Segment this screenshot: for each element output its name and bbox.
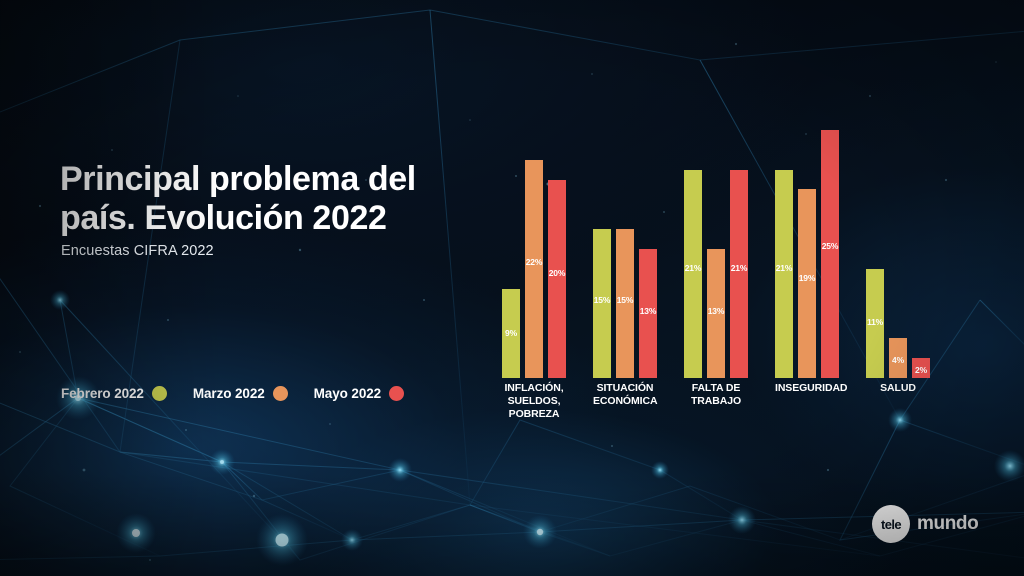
infographic-slide: Principal problema del país. Evolución 2… — [0, 0, 1024, 576]
bar-value-label: 21% — [685, 264, 701, 273]
bar: 13% — [707, 249, 725, 378]
page-title: Principal problema del país. Evolución 2… — [60, 160, 480, 238]
bar: 25% — [821, 130, 839, 378]
bar-value-label: 4% — [892, 356, 904, 365]
bar: 20% — [548, 180, 566, 378]
bar-value-label: 25% — [822, 242, 838, 251]
page-subtitle: Encuestas CIFRA 2022 — [61, 243, 214, 259]
category-label: INFLACIÓN,SUELDOS,POBREZA — [502, 378, 566, 430]
legend-item-marzo: Marzo 2022 — [193, 386, 288, 401]
bar: 21% — [684, 170, 702, 378]
bar: 4% — [889, 338, 907, 378]
bar: 15% — [593, 229, 611, 378]
bar-value-label: 11% — [867, 318, 883, 327]
bar-value-label: 13% — [708, 307, 724, 316]
legend-item-mayo: Mayo 2022 — [314, 386, 404, 401]
bar-group: 9%22%20% — [502, 160, 566, 378]
bar-group: 11%4%2% — [866, 269, 930, 378]
legend-label-marzo: Marzo 2022 — [193, 386, 265, 401]
chart-legend: Febrero 2022 Marzo 2022 Mayo 2022 — [61, 386, 404, 401]
bar: 13% — [639, 249, 657, 378]
bar-chart-category-labels: INFLACIÓN,SUELDOS,POBREZASITUACIÓNECONÓM… — [492, 378, 1004, 430]
legend-item-febrero: Febrero 2022 — [61, 386, 167, 401]
legend-swatch-febrero — [152, 386, 167, 401]
bar-value-label: 21% — [731, 264, 747, 273]
bar: 21% — [775, 170, 793, 378]
bar-value-label: 13% — [640, 307, 656, 316]
category-label: SALUD — [866, 378, 930, 430]
bar-value-label: 9% — [505, 329, 517, 338]
telemundo-logo: tele mundo — [872, 505, 978, 543]
legend-swatch-mayo — [389, 386, 404, 401]
category-label: SITUACIÓNECONÓMICA — [593, 378, 657, 430]
bar: 22% — [525, 160, 543, 378]
category-label: INSEGURIDAD — [775, 378, 839, 430]
telemundo-logo-mark: tele — [872, 505, 910, 543]
bar: 11% — [866, 269, 884, 378]
bar-value-label: 21% — [776, 264, 792, 273]
bar-value-label: 20% — [549, 269, 565, 278]
bar-chart: 9%22%20%15%15%13%21%13%21%21%19%25%11%4%… — [492, 120, 1004, 430]
legend-swatch-marzo — [273, 386, 288, 401]
bar-chart-plot-area: 9%22%20%15%15%13%21%13%21%21%19%25%11%4%… — [492, 120, 1004, 378]
telemundo-logo-word: mundo — [917, 513, 978, 535]
bar: 15% — [616, 229, 634, 378]
bar: 2% — [912, 358, 930, 378]
bar-value-label: 2% — [915, 366, 927, 375]
legend-label-febrero: Febrero 2022 — [61, 386, 144, 401]
bar: 21% — [730, 170, 748, 378]
bar-group: 21%13%21% — [684, 170, 748, 378]
bar-value-label: 22% — [526, 258, 542, 267]
bar-group: 21%19%25% — [775, 130, 839, 378]
bar-value-label: 19% — [799, 274, 815, 283]
bar: 9% — [502, 289, 520, 378]
telemundo-logo-mark-text: tele — [881, 517, 901, 532]
legend-label-mayo: Mayo 2022 — [314, 386, 381, 401]
category-label: FALTA DETRABAJO — [684, 378, 748, 430]
bar-value-label: 15% — [617, 296, 633, 305]
bar-value-label: 15% — [594, 296, 610, 305]
bar: 19% — [798, 189, 816, 378]
bar-group: 15%15%13% — [593, 229, 657, 378]
